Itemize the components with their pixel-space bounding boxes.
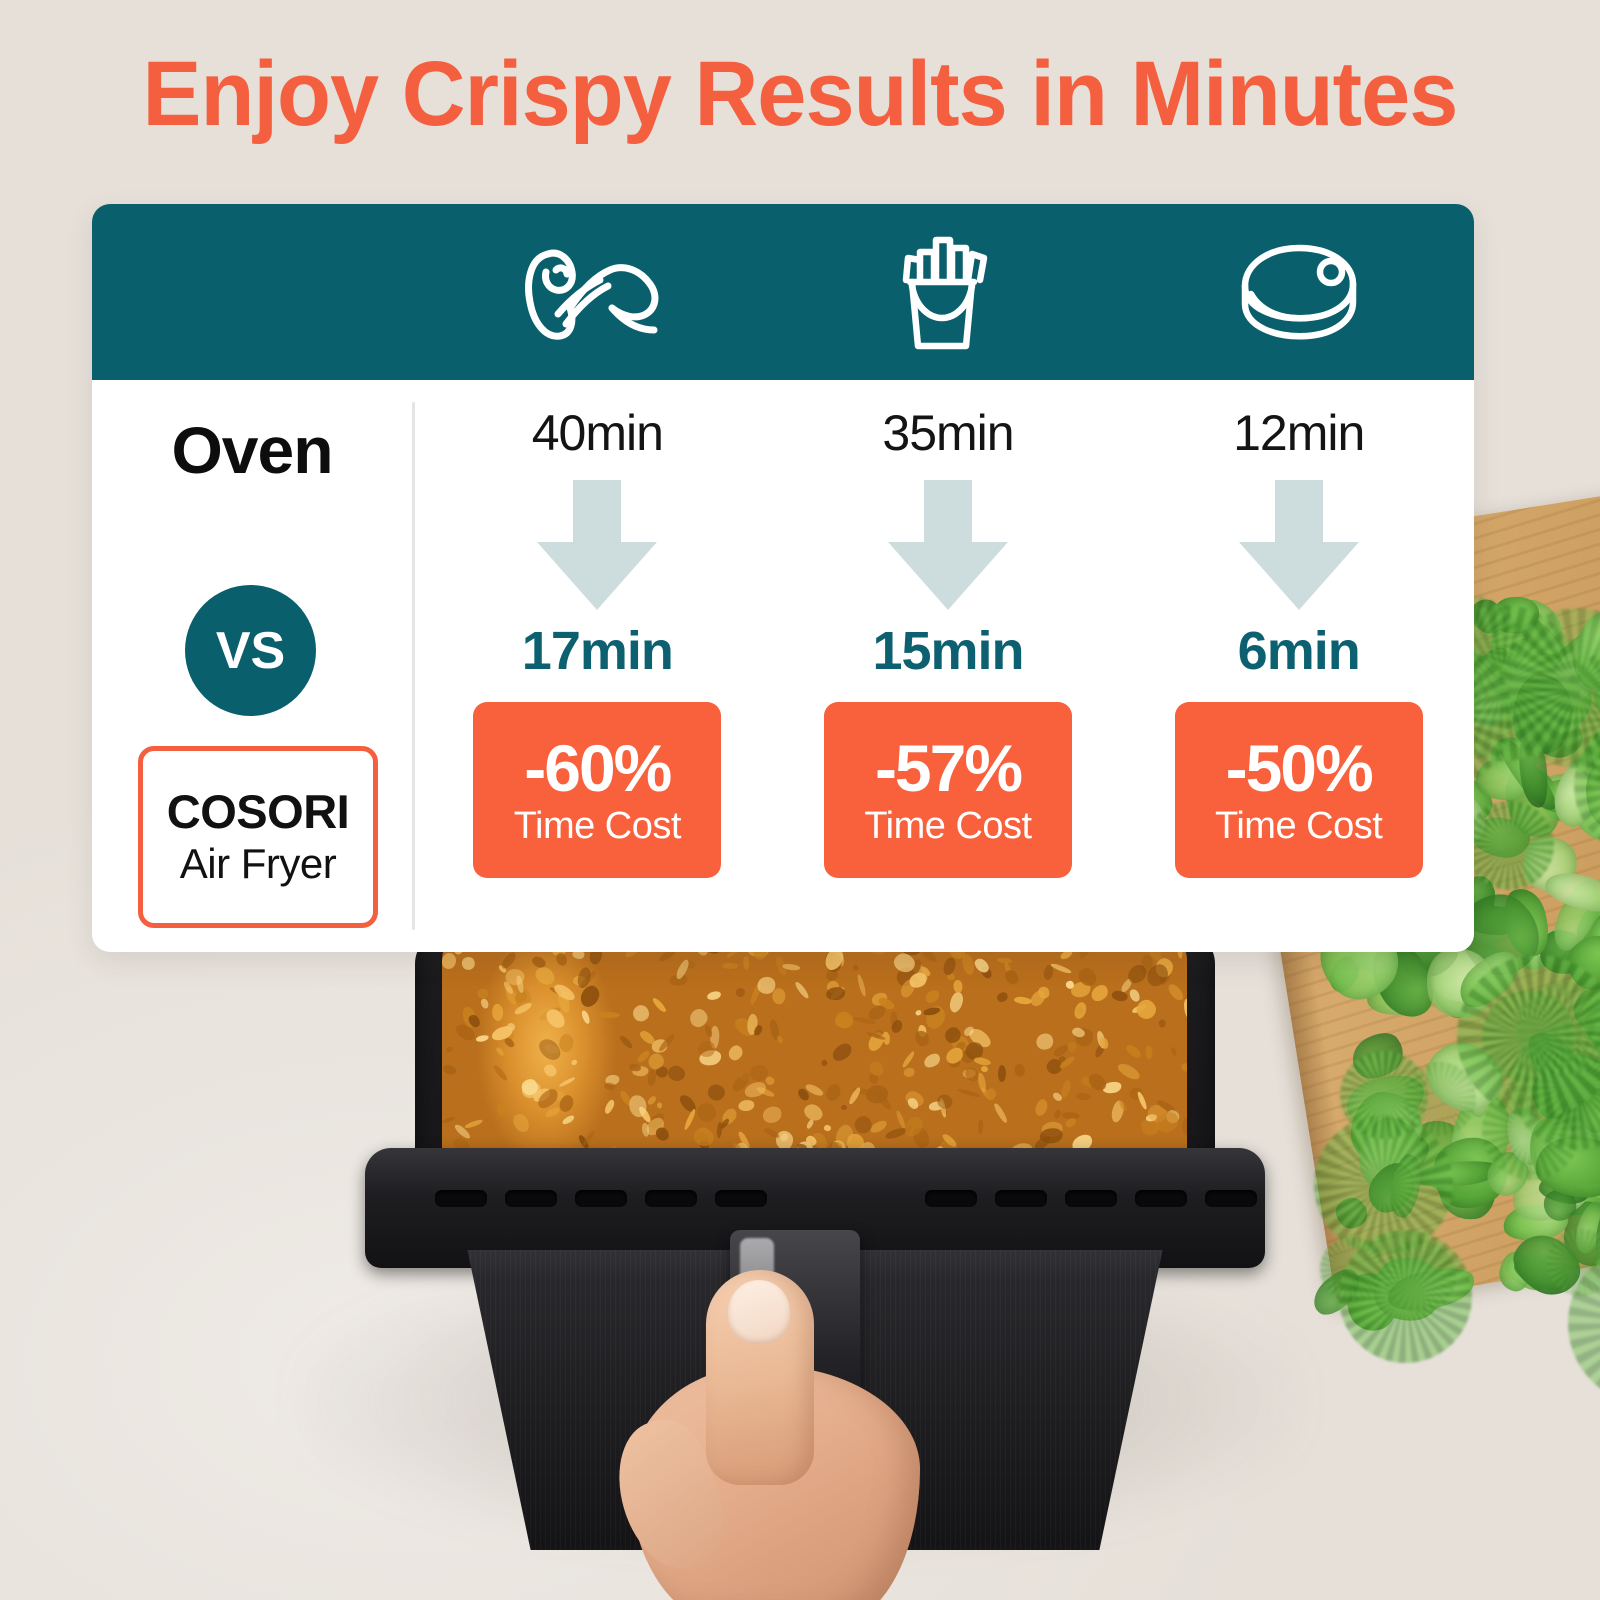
comparison-card: Oven VS COSORI Air Fryer 40min 17min -60… xyxy=(92,204,1474,952)
food-icon-cell-steak xyxy=(1119,204,1474,380)
steak-icon xyxy=(1231,238,1363,346)
fingernail xyxy=(728,1280,790,1344)
infographic-canvas: Enjoy Crispy Results in Minutes xyxy=(0,0,1600,1600)
food-icon-cell-bacon xyxy=(410,204,765,380)
airfryer-time: 6min xyxy=(1238,620,1360,682)
oven-time: 12min xyxy=(1233,404,1364,462)
card-body: Oven VS COSORI Air Fryer 40min 17min -60… xyxy=(92,380,1474,952)
oven-time: 35min xyxy=(882,404,1013,462)
brand-subtitle: Air Fryer xyxy=(180,841,337,887)
down-arrow-icon xyxy=(533,480,661,612)
bacon-strips-icon xyxy=(512,236,662,348)
comparison-legend: Oven VS COSORI Air Fryer xyxy=(92,380,412,952)
savings-percent: -50% xyxy=(1226,735,1372,801)
savings-label: Time Cost xyxy=(864,807,1031,845)
time-savings-badge: -60% Time Cost xyxy=(473,702,721,878)
food-icon-cell-fries xyxy=(765,204,1120,380)
savings-label: Time Cost xyxy=(514,807,681,845)
comparison-column-fries: 35min 15min -57% Time Cost xyxy=(773,380,1124,952)
comparison-column-bacon: 40min 17min -60% Time Cost xyxy=(422,380,773,952)
down-arrow-icon xyxy=(884,480,1012,612)
oven-time: 40min xyxy=(532,404,663,462)
brand-name: COSORI xyxy=(167,787,349,836)
food-icon-row xyxy=(410,204,1474,380)
savings-percent: -57% xyxy=(875,735,1021,801)
vs-badge: VS xyxy=(185,585,316,716)
comparison-columns: 40min 17min -60% Time Cost 35min 15 xyxy=(422,380,1474,952)
airfryer-time: 17min xyxy=(522,620,673,682)
oven-label: Oven xyxy=(92,412,412,488)
vertical-divider xyxy=(412,402,415,930)
time-savings-badge: -50% Time Cost xyxy=(1175,702,1423,878)
hand-gripping-handle xyxy=(620,1270,960,1600)
card-header-bar xyxy=(92,204,1474,380)
savings-label: Time Cost xyxy=(1215,807,1382,845)
index-finger xyxy=(706,1270,814,1485)
page-title: Enjoy Crispy Results in Minutes xyxy=(32,48,1568,140)
comparison-column-steak: 12min 6min -50% Time Cost xyxy=(1123,380,1474,952)
time-savings-badge: -57% Time Cost xyxy=(824,702,1072,878)
french-fries-icon xyxy=(890,232,994,352)
cosori-brand-badge: COSORI Air Fryer xyxy=(138,746,378,928)
down-arrow-icon xyxy=(1235,480,1363,612)
airfryer-time: 15min xyxy=(872,620,1023,682)
savings-percent: -60% xyxy=(524,735,670,801)
